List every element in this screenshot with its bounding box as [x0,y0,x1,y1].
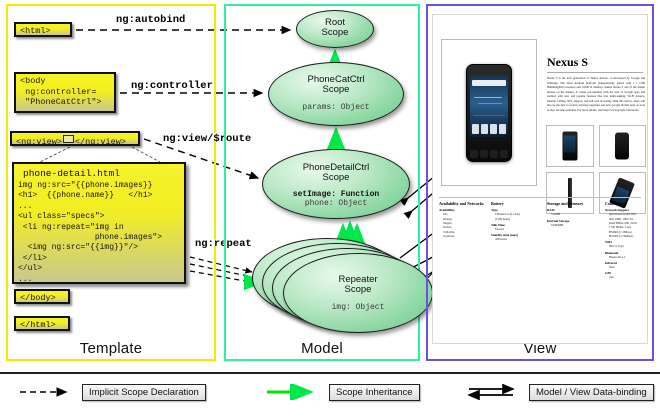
spec-value: true [605,275,640,279]
scope-phonedetailctrl-prop-setimage: setImage: Function [263,190,409,199]
phone-app-dock [472,124,506,134]
scope-repeater-title-2: Scope [284,285,432,295]
ngview-placeholder-icon [63,135,74,143]
code-note-title: phone-detail.html [17,166,181,181]
scope-phonecatctrl-prop-params: params: Object [269,103,403,112]
scope-phonedetailctrl-title-2: Scope [263,173,409,183]
phone-search-bar-icon [472,80,506,86]
code-note-phone-detail: phone-detail.html img ng:src="{{phone.im… [12,162,186,284]
spec-value: 512MB [547,212,602,216]
tag-html-close: </html> [14,316,70,331]
product-description: Nexus S is the next generation of Nexus … [547,76,645,112]
spec-header: Connectivity [605,201,640,206]
legend-label: Model / View Data-binding [529,384,654,401]
scope-repeater: Repeater Scope img: Object [283,253,433,333]
double-arrow-icon [465,384,523,400]
legend-data-binding: Model / View Data-binding [465,383,654,401]
spec-value: Quad-band GSM: 850, [605,212,640,216]
dashed-arrow-icon [18,384,76,400]
spec-value: 6 hours [491,227,544,231]
legend-label: Scope Inheritance [329,384,420,401]
tag-body-close: </body> [14,289,70,304]
scope-phonedetailctrl: PhoneDetailCtrl Scope setImage: Function… [262,149,410,219]
scope-phonecatctrl: PhoneCatCtrl Scope params: Object [268,62,404,126]
specs-table: Availability and Networks Availability M… [439,201,643,280]
spec-header: Storage and Memory [547,201,602,206]
page-title: Nexus S [547,55,588,70]
spec-column-connectivity: Connectivity Network Support Quad-band G… [605,201,643,280]
spec-value: (1500 mAh) [491,217,544,221]
legend-label: Implicit Scope Declaration [82,384,206,401]
legend-divider [0,372,660,374]
spec-header: Availability and Networks [439,201,488,206]
code-note-body: img ng:src="{{phone.images}} <h1> {{phon… [17,181,181,285]
spec-value: Bluetooth 2.1 [605,255,640,259]
title-divider [547,72,643,73]
spec-header: Battery [491,201,544,206]
tag-ngview-open: <ng:view> [16,137,62,147]
spec-column-battery: Battery Type Lithium Ion (Li-Ion) (1500 … [491,201,547,280]
green-arrow-icon [265,384,323,400]
legend-scope-inheritance: Scope Inheritance [265,383,420,401]
spec-value: 802.11 b/g/n [605,244,640,248]
edge-label-controller: ng:controller [131,80,213,92]
diagram-canvas: Template <html> <body ng:controller= "Ph… [0,0,660,420]
specs-divider [439,197,641,198]
scope-repeater-prop-img: img: Object [284,303,432,312]
thumbnail-item[interactable] [599,125,647,167]
column-model-label: Model [226,340,418,357]
spec-value: 428 hours [491,237,544,241]
scope-root-title-2: Scope [297,28,373,38]
phone-soft-keys [470,150,508,158]
thumbnail-item[interactable] [546,125,594,167]
phone-hero-image-frame [441,39,537,186]
tag-ngview: <ng:view></ng:view> [10,131,140,146]
view-rendered-page: Nexus S Nexus S is the next generation o… [432,14,648,344]
tag-ngview-close: </ng:view> [75,137,126,147]
spec-value: HSUPA (5.76Mbps) [605,234,640,238]
tag-html-open: <html> [14,22,72,37]
phone-hero-image [466,64,512,162]
scope-root: Root Scope [296,10,374,48]
legend-implicit-scope-declaration: Implicit Scope Declaration [18,383,206,401]
edge-label-autobind: ng:autobind [116,14,185,26]
phone-screen [470,75,508,137]
scope-phonedetailctrl-prop-phone: phone: Object [263,199,409,208]
spec-column-storage: Storage and Memory RAM 512MB Internal St… [547,201,605,280]
spec-column-availability: Availability and Networks Availability M… [439,201,491,280]
scope-phonecatctrl-title-2: Scope [269,85,403,95]
spec-value: 16384MB [547,223,602,227]
tag-body-open: <body ng:controller= "PhoneCatCtrl"> [14,72,116,113]
spec-value: false [605,265,640,269]
spec-value: Vodafone [439,234,488,238]
column-template-label: Template [8,340,214,357]
